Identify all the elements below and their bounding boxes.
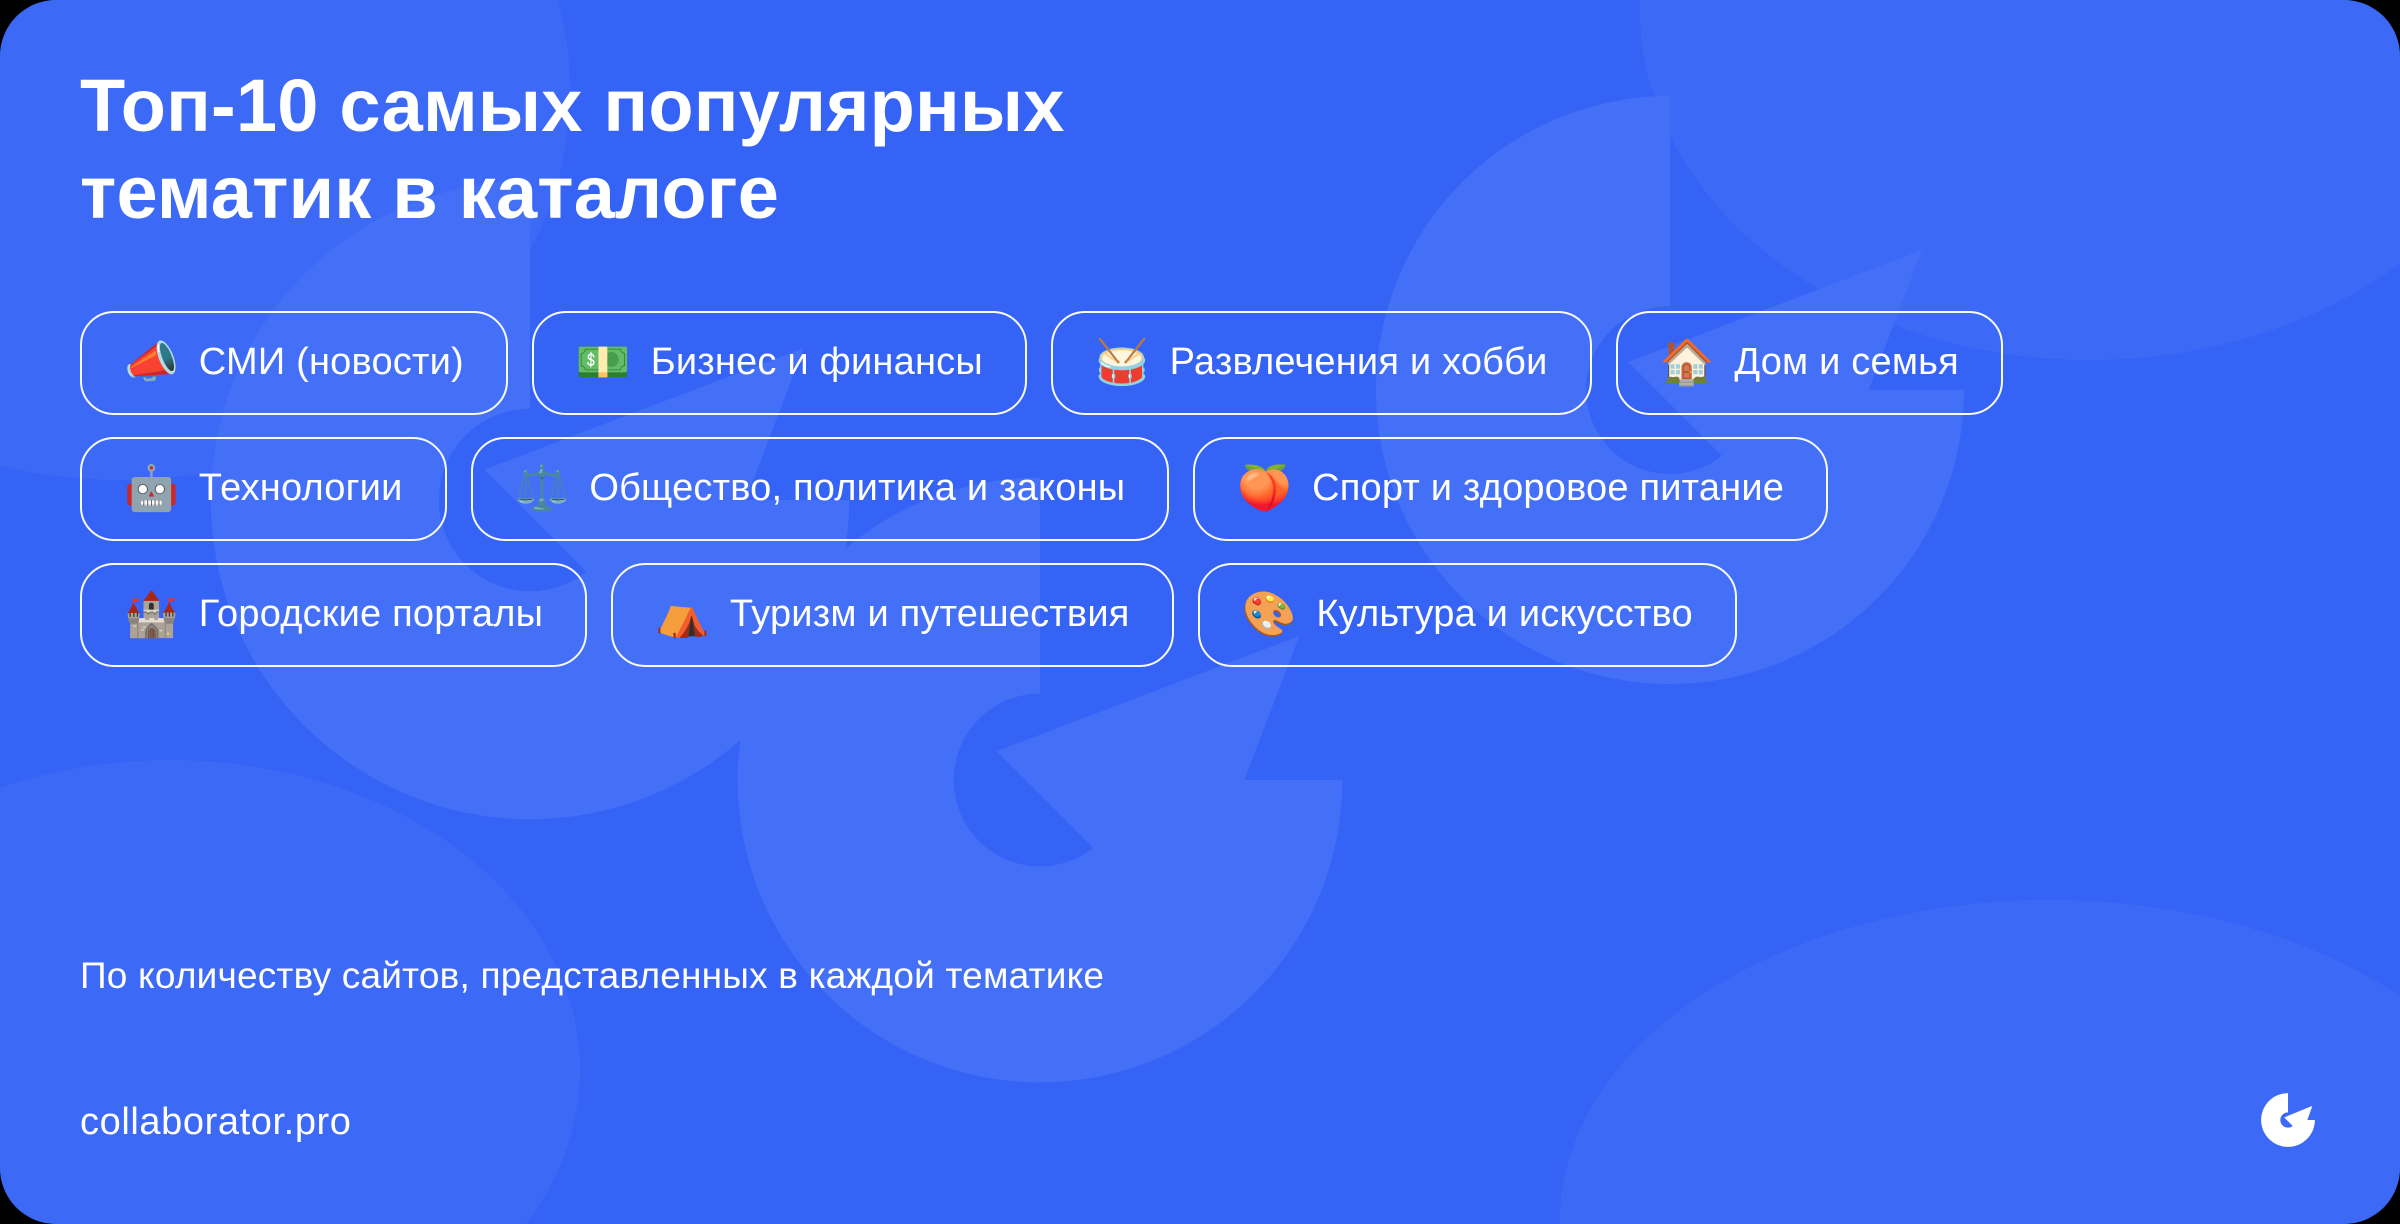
topic-card[interactable]: 📣 СМИ (новости) (80, 311, 508, 415)
site-url[interactable]: collaborator.pro (80, 1101, 352, 1144)
topic-row: 🤖 Технологии ⚖️ Общество, политика и зак… (80, 437, 2320, 541)
house-icon: 🏠 (1660, 341, 1715, 385)
megaphone-icon: 📣 (124, 341, 179, 385)
topic-label: СМИ (новости) (199, 341, 464, 384)
tent-icon: ⛺ (655, 593, 710, 637)
topic-label: Технологии (199, 467, 403, 510)
topic-card[interactable]: 🎨 Культура и искусство (1198, 563, 1737, 667)
banknote-icon: 💵 (576, 341, 631, 385)
scales-icon: ⚖️ (515, 467, 570, 511)
caption-text: По количеству сайтов, представленных в к… (80, 955, 1104, 997)
topic-card[interactable]: 🤖 Технологии (80, 437, 447, 541)
topic-label: Развлечения и хобби (1170, 341, 1548, 384)
content-container: Топ-10 самых популярных тематик в катало… (0, 0, 2400, 1224)
topic-card[interactable]: ⚖️ Общество, политика и законы (471, 437, 1170, 541)
castle-icon: 🏰 (124, 593, 179, 637)
page-title: Топ-10 самых популярных тематик в катало… (80, 62, 1580, 237)
topic-card[interactable]: 🏰 Городские порталы (80, 563, 587, 667)
topic-row: 🏰 Городские порталы ⛺ Туризм и путешеств… (80, 563, 2320, 667)
topic-label: Спорт и здоровое питание (1312, 467, 1784, 510)
peach-icon: 🍑 (1237, 467, 1292, 511)
infographic-canvas: Топ-10 самых популярных тематик в катало… (0, 0, 2400, 1224)
collaborator-logo-icon (2256, 1088, 2320, 1157)
palette-icon: 🎨 (1242, 593, 1297, 637)
topic-card[interactable]: 🥁 Развлечения и хобби (1051, 311, 1592, 415)
topic-label: Городские порталы (199, 593, 543, 636)
topic-label: Дом и семья (1734, 341, 1959, 384)
robot-icon: 🤖 (124, 467, 179, 511)
footer: collaborator.pro (80, 1088, 2320, 1157)
topic-label: Бизнес и финансы (651, 341, 983, 384)
topic-label: Туризм и путешествия (730, 593, 1130, 636)
topic-card[interactable]: 💵 Бизнес и финансы (532, 311, 1027, 415)
topic-row: 📣 СМИ (новости) 💵 Бизнес и финансы 🥁 Раз… (80, 311, 2320, 415)
topic-label: Общество, политика и законы (589, 467, 1125, 510)
topic-card[interactable]: ⛺ Туризм и путешествия (611, 563, 1173, 667)
drum-icon: 🥁 (1095, 341, 1150, 385)
topic-card[interactable]: 🍑 Спорт и здоровое питание (1193, 437, 1828, 541)
topic-card[interactable]: 🏠 Дом и семья (1616, 311, 2003, 415)
topic-label: Культура и искусство (1316, 593, 1692, 636)
topic-rows: 📣 СМИ (новости) 💵 Бизнес и финансы 🥁 Раз… (80, 311, 2320, 667)
